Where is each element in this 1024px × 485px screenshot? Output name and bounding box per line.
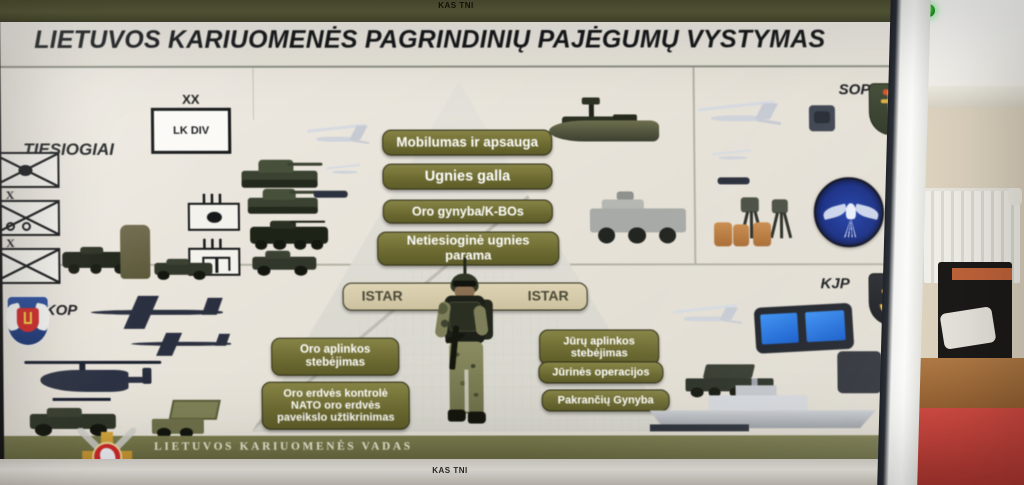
page-title: LIETUVOS KARIUOMENĖS PAGRINDINIŲ PAJĖGUM… <box>34 25 874 55</box>
special-operations-boat-icon <box>549 97 659 145</box>
bridge-console-icon <box>754 303 855 354</box>
regiment-size-icon <box>203 194 225 204</box>
commander-crest-icon <box>76 428 139 462</box>
unit-symbol-infantry <box>0 248 61 284</box>
small-uav-icon <box>323 162 363 184</box>
night-vision-goggles-icon <box>809 105 835 131</box>
soldier-figure <box>432 270 498 434</box>
surface-to-air-missile-system-icon <box>152 392 238 438</box>
tracked-vehicle-icon <box>248 180 318 214</box>
capability-air-surveillance[interactable]: Oro aplinkos stebėjimas <box>271 338 399 376</box>
utility-vehicle-icon <box>154 254 212 280</box>
capability-airspace-control[interactable]: Oro erdvės kontrolė NATO oro erdvės pave… <box>261 382 409 430</box>
mini-uav-icon <box>707 147 755 169</box>
pyramid-tier-indirect-fire[interactable]: Netiesioginė ugnies parama <box>377 232 559 266</box>
equipment-bag-icon <box>733 224 749 246</box>
equipment-bag-icon <box>714 222 732 246</box>
infantry-fighting-vehicle-icon <box>250 216 328 250</box>
pyramid-tier-mobility[interactable]: Mobilumas ir apsauga <box>382 130 552 156</box>
optical-sensor-icon <box>768 199 792 241</box>
pyramid-tier-firepower[interactable]: Ugnies galla <box>382 164 552 190</box>
division-size-indicator: XX <box>151 92 231 107</box>
watermark-top: KAS TNI <box>0 1 912 10</box>
right-boot <box>468 412 486 424</box>
monitor-photograph: LIETUVOS KARIUOMENĖS PAGRINDINIŲ PAJĖGUM… <box>0 0 1024 485</box>
mrap-vehicle-icon <box>590 189 687 243</box>
light-aircraft-icon <box>131 330 231 358</box>
leg-gap <box>464 370 468 412</box>
regiment-size-icon <box>203 239 225 249</box>
light-tactical-vehicle-icon <box>252 246 316 276</box>
transport-aircraft-icon <box>91 292 223 332</box>
capability-maritime-operations[interactable]: Jūrinės operacijos <box>538 361 663 383</box>
antenna <box>463 258 466 274</box>
fixed-wing-uav-icon <box>301 120 371 160</box>
footer-banner-text: LIETUVOS KARIUOMENĖS VADAS <box>154 441 413 453</box>
sop-label: SOP <box>839 81 871 98</box>
loitering-munition-icon <box>314 191 348 198</box>
istar-label-left: ISTAR <box>362 289 403 305</box>
kjp-label: KJP <box>820 275 849 292</box>
presentation-slide: LIETUVOS KARIUOMENĖS PAGRINDINIŲ PAJĖGUM… <box>0 19 910 462</box>
air-force-roundel-icon <box>814 177 885 247</box>
left-boot <box>448 410 466 422</box>
radiator-valve <box>1008 188 1022 205</box>
capability-maritime-surveillance[interactable]: Jūrų aplinkos stebėjimas <box>539 329 659 365</box>
istar-label-right: ISTAR <box>528 289 569 305</box>
pyramid-tier-air-defence[interactable]: Oro gynyba/K-BOs <box>383 200 553 224</box>
helicopter-icon <box>33 356 149 404</box>
unit-symbol-mechanised <box>0 200 60 236</box>
orange-object <box>952 268 1012 280</box>
kop-shield-icon <box>7 296 49 346</box>
tactical-uav-icon <box>691 95 783 143</box>
micro-drone-icon <box>718 177 750 184</box>
naval-vessel-icon <box>649 381 876 433</box>
unit-symbol-armour <box>0 152 60 188</box>
equipment-bag-icon <box>753 222 771 246</box>
unit-symbol-artillery-regiment <box>188 203 240 231</box>
footer-banner <box>4 435 910 462</box>
division-unit-symbol[interactable]: LK DIV <box>151 108 231 154</box>
watermark-bottom: KAS TNI <box>0 466 900 475</box>
maritime-uav-icon <box>667 301 743 337</box>
dismounted-soldier-icon <box>120 225 151 279</box>
